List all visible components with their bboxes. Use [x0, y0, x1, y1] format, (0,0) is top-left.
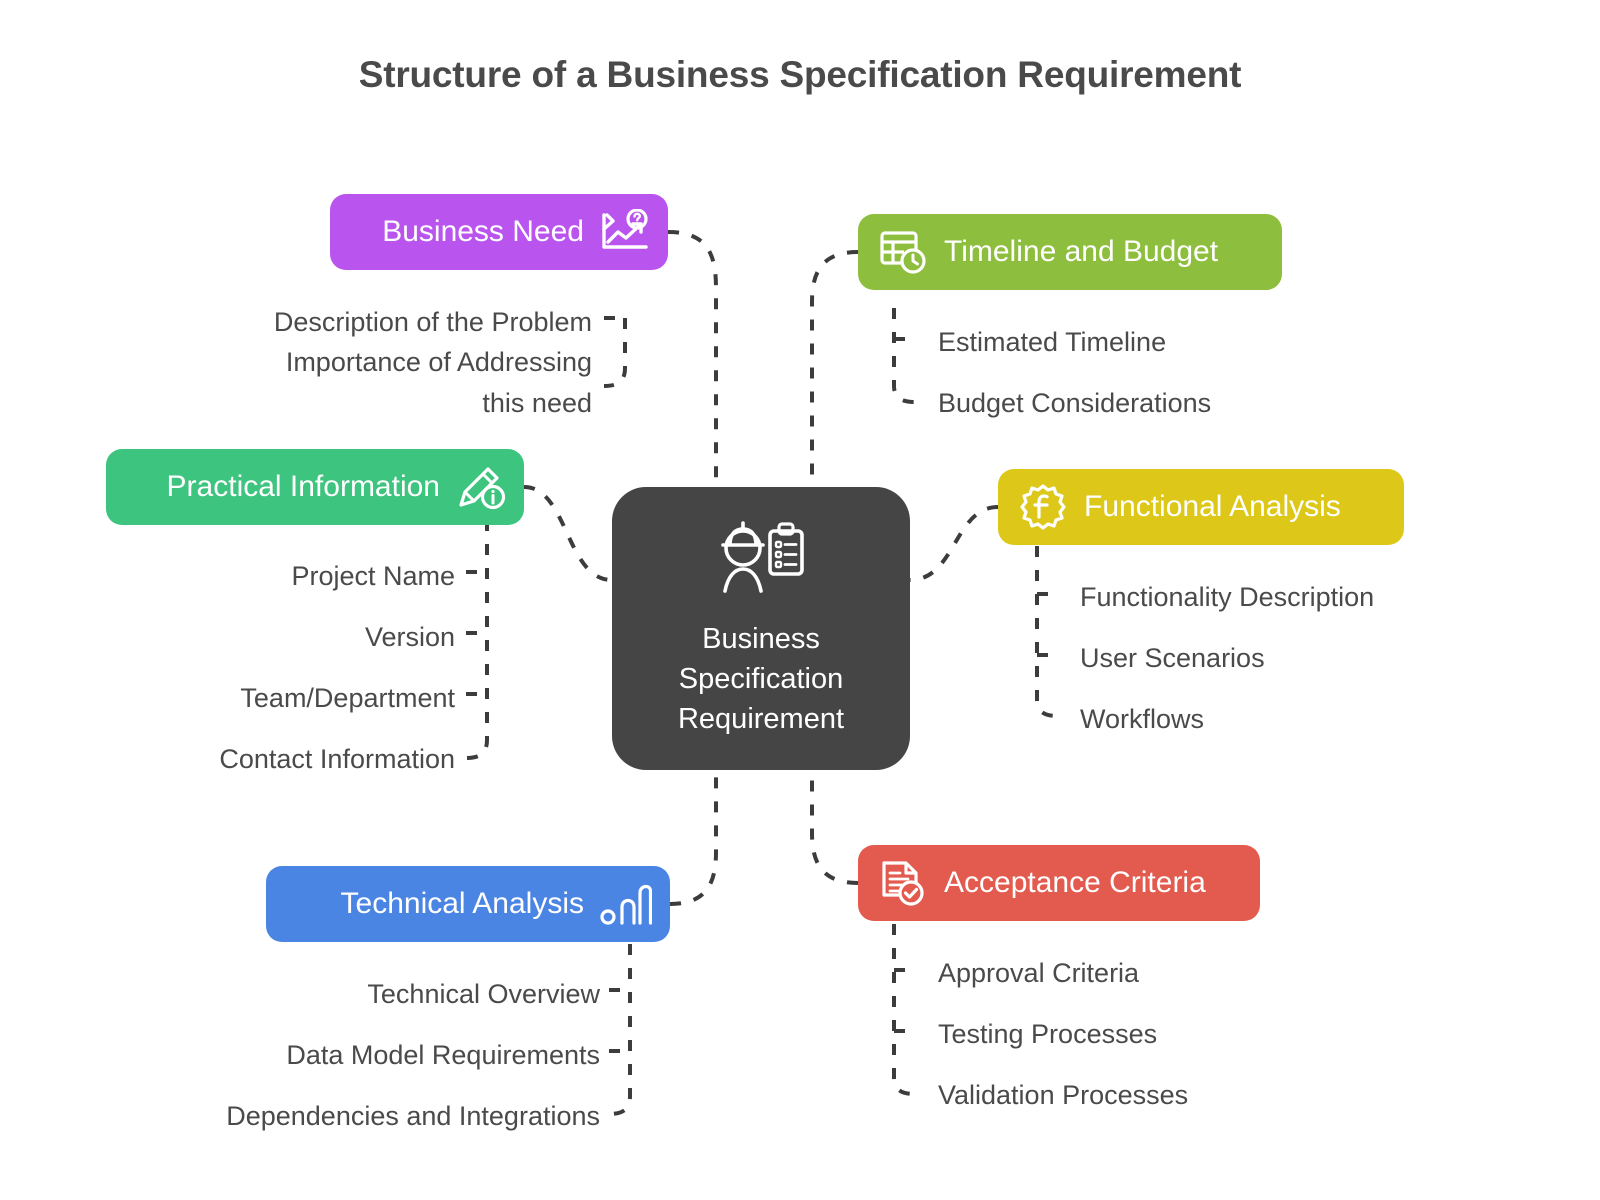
center-node-business-specification-requirement[interactable]: Business Specification Requirement: [612, 487, 910, 770]
bracket-functional-analysis: [1037, 546, 1057, 716]
branch-label-practical-information: Practical Information: [167, 470, 440, 504]
bar-chart-icon: [600, 881, 652, 927]
sub-item-practical-information-2: Team/Department: [40, 678, 455, 719]
sub-item-technical-analysis-1: Data Model Requirements: [40, 1035, 600, 1076]
sub-item-timeline-budget-1: Budget Considerations: [938, 383, 1458, 424]
branch-label-timeline-and-budget: Timeline and Budget: [944, 235, 1218, 269]
sub-item-business-need-1: Importance of Addressing this need: [140, 342, 592, 424]
center-node-label: Business Specification Requirement: [678, 619, 844, 739]
wire-acceptance-criteria: [812, 770, 858, 883]
wire-business-need: [668, 232, 716, 487]
sub-item-practical-information-3: Contact Information: [40, 739, 455, 780]
branch-node-functional-analysis[interactable]: Functional Analysis: [998, 469, 1404, 545]
sub-item-business-need-0: Description of the Problem: [140, 302, 592, 343]
branch-node-acceptance-criteria[interactable]: Acceptance Criteria: [858, 845, 1260, 921]
branch-node-technical-analysis[interactable]: Technical Analysis: [266, 866, 670, 942]
branch-label-acceptance-criteria: Acceptance Criteria: [944, 866, 1206, 900]
sub-item-practical-information-1: Version: [40, 617, 455, 658]
engineer-clipboard-icon: [715, 518, 807, 605]
bracket-technical-analysis: [609, 944, 630, 1114]
document-check-icon: [878, 859, 928, 907]
page-title: Structure of a Business Specification Re…: [0, 54, 1600, 96]
branch-label-functional-analysis: Functional Analysis: [1084, 490, 1341, 524]
sub-item-acceptance-criteria-2: Validation Processes: [938, 1075, 1498, 1116]
branch-node-practical-information[interactable]: Practical Information: [106, 449, 524, 525]
sub-item-functional-analysis-2: Workflows: [1080, 699, 1600, 740]
branch-label-business-need: Business Need: [382, 215, 584, 249]
branch-label-technical-analysis: Technical Analysis: [341, 887, 584, 921]
sub-item-practical-information-0: Project Name: [40, 556, 455, 597]
sub-item-functional-analysis-1: User Scenarios: [1080, 638, 1600, 679]
bracket-acceptance-criteria: [894, 924, 914, 1094]
schedule-clock-icon: [878, 228, 928, 276]
pencil-info-icon: [456, 463, 506, 511]
wire-practical-information: [524, 487, 612, 580]
bracket-timeline-budget: [894, 308, 914, 402]
sub-item-acceptance-criteria-1: Testing Processes: [938, 1014, 1498, 1055]
sub-item-timeline-budget-0: Estimated Timeline: [938, 322, 1458, 363]
wire-technical-analysis: [670, 770, 716, 904]
branch-node-timeline-and-budget[interactable]: Timeline and Budget: [858, 214, 1282, 290]
sub-item-technical-analysis-2: Dependencies and Integrations: [40, 1096, 600, 1137]
branch-node-business-need[interactable]: Business Need: [330, 194, 668, 270]
mindmap-canvas: Structure of a Business Specification Re…: [0, 0, 1600, 1200]
bracket-practical-information: [466, 520, 487, 758]
wire-functional-analysis: [910, 507, 998, 580]
sub-item-acceptance-criteria-0: Approval Criteria: [938, 953, 1498, 994]
bracket-business-need: [604, 318, 625, 386]
wire-timeline-budget: [812, 252, 858, 487]
sub-item-technical-analysis-0: Technical Overview: [40, 974, 600, 1015]
gear-function-icon: [1018, 483, 1068, 531]
chart-question-icon: [600, 209, 650, 255]
sub-item-functional-analysis-0: Functionality Description: [1080, 577, 1600, 618]
